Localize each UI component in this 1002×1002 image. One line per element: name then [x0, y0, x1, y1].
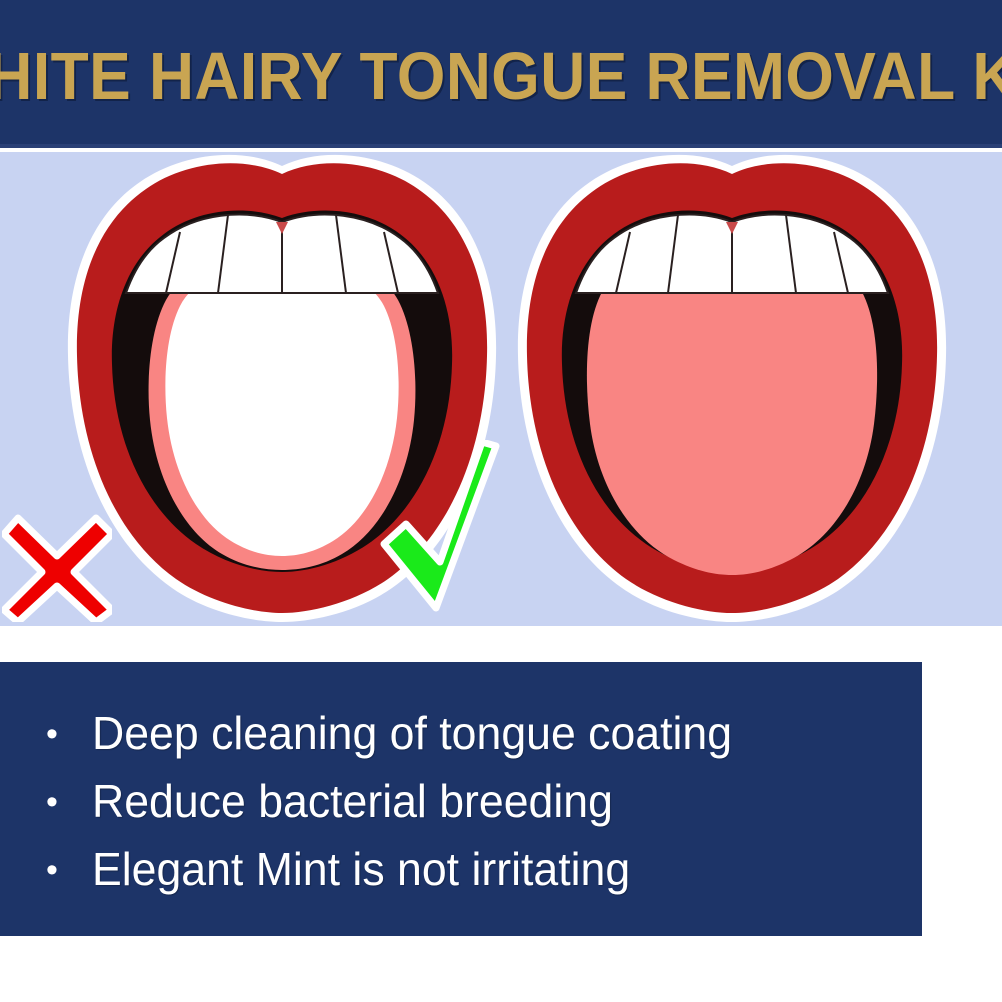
- benefit-text: Deep cleaning of tongue coating: [92, 710, 732, 756]
- benefit-text: Elegant Mint is not irritating: [92, 846, 630, 892]
- list-item: • Deep cleaning of tongue coating: [46, 710, 922, 778]
- benefits-panel: • Deep cleaning of tongue coating • Redu…: [0, 662, 922, 936]
- list-item: • Reduce bacterial breeding: [46, 778, 922, 846]
- list-item: • Elegant Mint is not irritating: [46, 846, 922, 914]
- check-mark-icon: [370, 440, 500, 625]
- bullet-dot-icon: •: [46, 717, 92, 751]
- bullet-dot-icon: •: [46, 853, 92, 887]
- comparison-illustration-panel: [0, 152, 1002, 626]
- mouth-svg-clean: [512, 152, 952, 622]
- benefit-text: Reduce bacterial breeding: [92, 778, 613, 824]
- mouth-illustration-clean: [512, 152, 952, 626]
- x-mark-icon: [2, 512, 112, 626]
- check-mark-svg: [370, 440, 500, 620]
- page-title: WHITE HAIRY TONGUE REMOVAL KIT: [0, 43, 1002, 110]
- header-banner: WHITE HAIRY TONGUE REMOVAL KIT: [0, 0, 1002, 148]
- x-mark-svg: [2, 512, 112, 622]
- tongue-white-coating: [165, 260, 398, 556]
- bullet-dot-icon: •: [46, 785, 92, 819]
- benefits-list: • Deep cleaning of tongue coating • Redu…: [0, 662, 922, 936]
- header-divider: [0, 144, 1002, 148]
